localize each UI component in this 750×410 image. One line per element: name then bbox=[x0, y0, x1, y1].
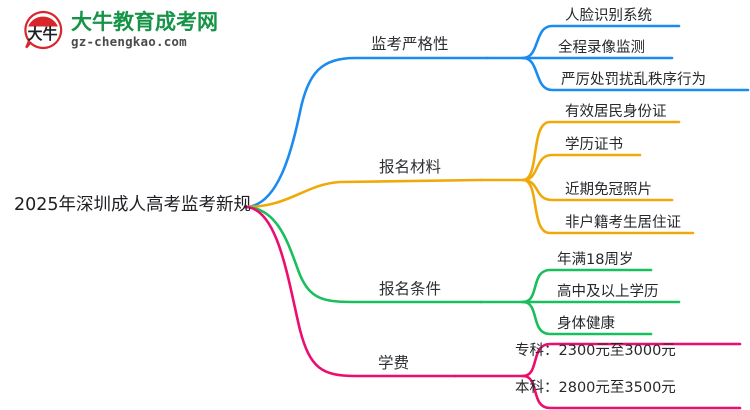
branch-label-registration-materials[interactable]: 报名材料 bbox=[379, 160, 441, 176]
leaf-label-good-health[interactable]: 身体健康 bbox=[557, 317, 615, 332]
mindmap-root-node[interactable]: 2025年深圳成人高考监考新规 bbox=[14, 197, 251, 215]
leaf-label-high-school-or-above[interactable]: 高中及以上学历 bbox=[557, 285, 659, 300]
branch-connector-1 bbox=[245, 58, 487, 207]
leaf-label-recent-bareheaded-photo[interactable]: 近期免冠照片 bbox=[565, 183, 652, 198]
leaf-label-college-tuition[interactable]: 专科：2300元至3000元 bbox=[515, 344, 676, 359]
branch-connector-2 bbox=[245, 180, 481, 207]
branch-label-registration-requirements[interactable]: 报名条件 bbox=[379, 282, 441, 298]
leaf-label-education-certificate[interactable]: 学历证书 bbox=[565, 138, 623, 153]
leaf-label-age-18-or-above[interactable]: 年满18周岁 bbox=[557, 253, 633, 268]
leaf-label-non-local-residence-permit[interactable]: 非户籍考生居住证 bbox=[565, 216, 681, 231]
leaf-label-strict-punishment-disorder[interactable]: 严厉处罚扰乱秩序行为 bbox=[561, 73, 706, 88]
branch-label-invigilation-strictness[interactable]: 监考严格性 bbox=[371, 37, 449, 53]
leaf-label-face-recognition-system[interactable]: 人脸识别系统 bbox=[565, 9, 652, 24]
leaf-label-full-video-monitoring[interactable]: 全程录像监测 bbox=[558, 41, 645, 56]
branch-label-tuition[interactable]: 学费 bbox=[378, 356, 409, 372]
branch-connector-3 bbox=[245, 207, 481, 302]
leaf-label-bachelor-tuition[interactable]: 本科：2800元至3500元 bbox=[515, 381, 676, 396]
leaf-label-valid-id-card[interactable]: 有效居民身份证 bbox=[565, 105, 667, 120]
leaf-connector-2-2 bbox=[523, 155, 640, 180]
